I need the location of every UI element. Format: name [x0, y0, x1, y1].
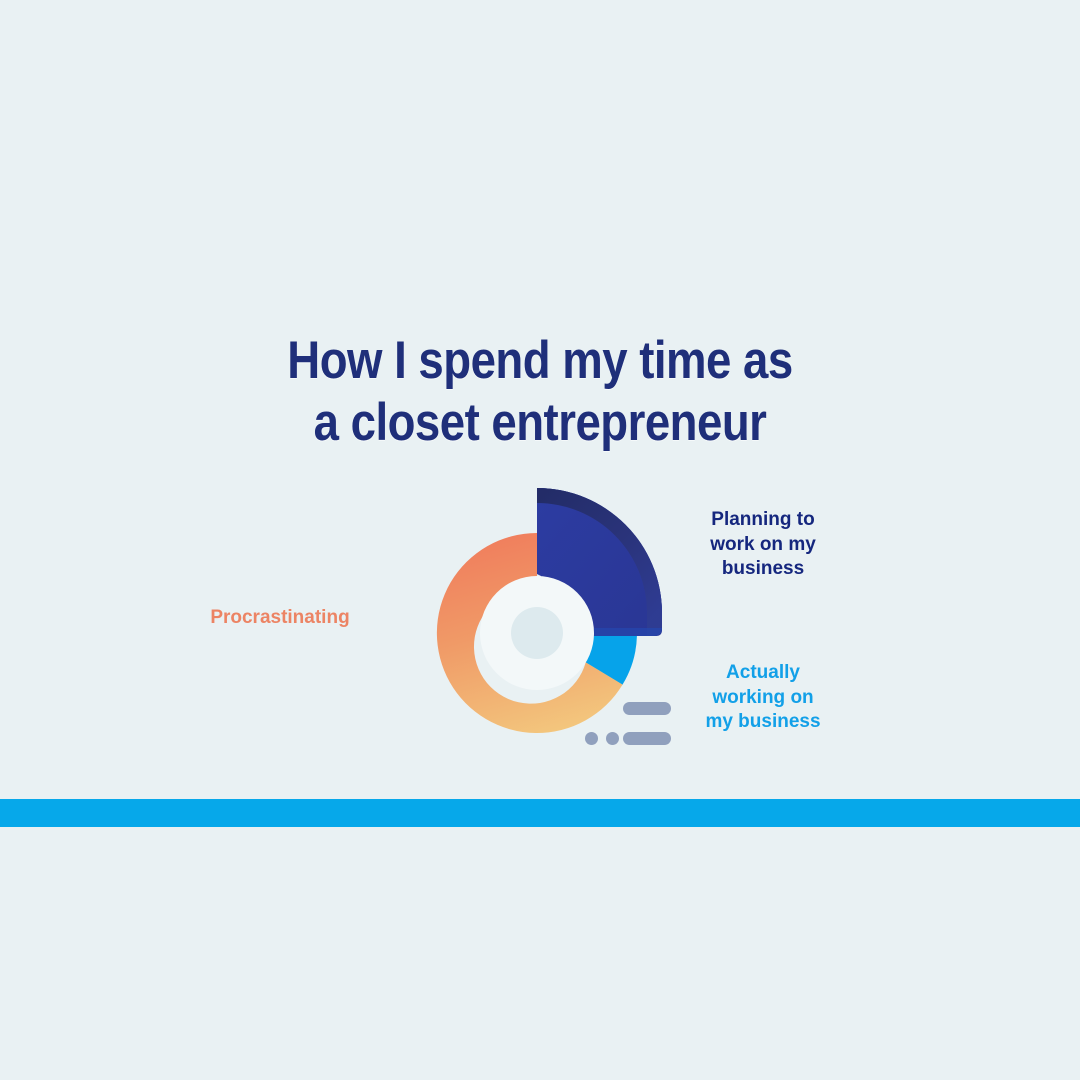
poster-canvas: How I spend my time as a closet entrepre…: [0, 0, 1080, 1080]
chart-label-procrastinating: Procrastinating: [150, 606, 410, 631]
donut-hub: [511, 607, 563, 659]
page-title: How I spend my time as a closet entrepre…: [0, 334, 1080, 449]
chart-label-actually-working: Actuallyworking onmy business: [683, 661, 843, 735]
footer-accent-bar: [0, 799, 1080, 827]
placeholder-dot-2: [606, 732, 619, 745]
page-title-line-1: How I spend my time as: [76, 334, 1005, 387]
placeholder-bar-1: [623, 702, 671, 715]
placeholder-bars-decoration: [585, 700, 675, 752]
placeholder-dot-1: [585, 732, 598, 745]
placeholder-bar-2: [623, 732, 671, 745]
chart-label-planning: Planning towork on mybusiness: [683, 508, 843, 582]
page-title-line-2: a closet entrepreneur: [76, 396, 1005, 449]
